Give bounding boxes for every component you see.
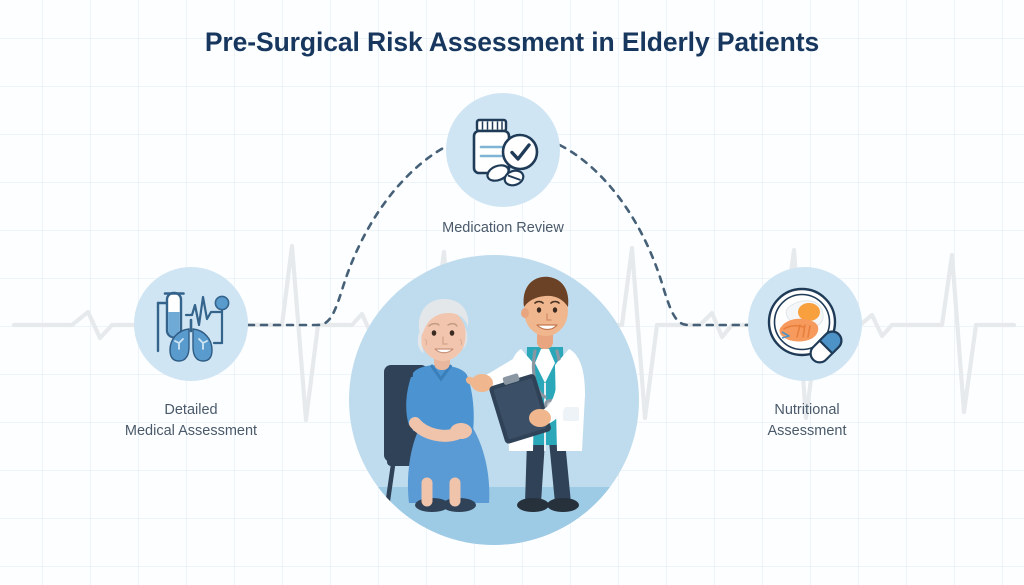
test-tube-lungs-ecg-icon bbox=[134, 267, 248, 381]
page-title: Pre-Surgical Risk Assessment in Elderly … bbox=[0, 27, 1024, 58]
infographic-canvas: Pre-Surgical Risk Assessment in Elderly … bbox=[0, 0, 1024, 585]
food-plate-capsule-icon bbox=[748, 267, 862, 381]
medication-review-label: Medication Review bbox=[383, 218, 623, 239]
nutritional-assessment-label: Nutritional Assessment bbox=[687, 400, 927, 442]
medication-review-bubble[interactable] bbox=[446, 93, 560, 207]
detailed-medical-assessment-label: Detailed Medical Assessment bbox=[67, 400, 315, 442]
detailed-medical-assessment-bubble[interactable] bbox=[134, 267, 248, 381]
nutritional-assessment-bubble[interactable] bbox=[748, 267, 862, 381]
doctor-consulting-elderly-patient-illustration bbox=[349, 255, 639, 545]
pill-bottle-check-icon bbox=[446, 93, 560, 207]
